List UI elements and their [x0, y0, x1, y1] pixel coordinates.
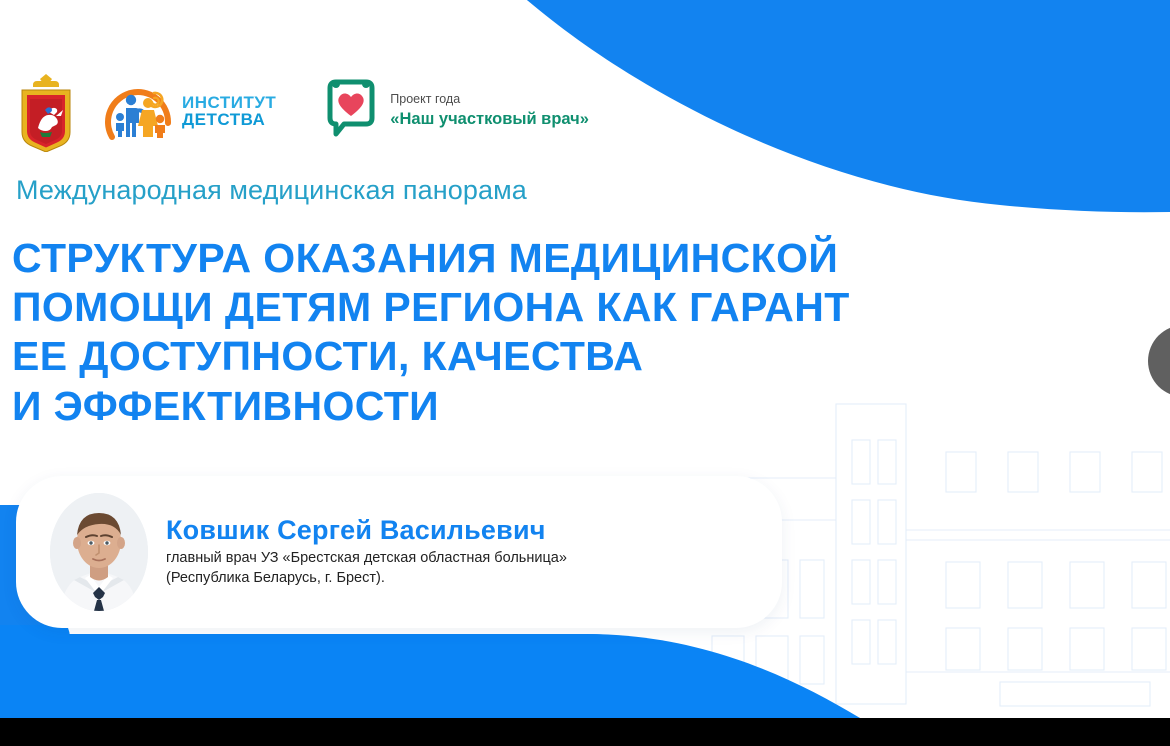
- avatar: [50, 493, 148, 611]
- title-line-3: ЕЕ ДОСТУПНОСТИ, КАЧЕСТВА: [12, 332, 1122, 381]
- logo-row: ИНСТИТУТ ДЕТСТВА Проект года «Наш участк…: [10, 70, 589, 152]
- title-line-4: И ЭФФЕКТИВНОСТИ: [12, 382, 1122, 431]
- speaker-portrait-icon: [50, 493, 148, 611]
- blue-bottom-band-shape: [0, 634, 860, 718]
- speaker-name: Ковшик Сергей Васильевич: [166, 515, 567, 546]
- title-line-2: ПОМОЩИ ДЕТЯМ РЕГИОНА КАК ГАРАНТ: [12, 283, 1122, 332]
- heart-stethoscope-icon: [322, 76, 380, 146]
- institute-line-1: ИНСТИТУТ: [182, 94, 276, 111]
- blue-corner-blob-shape: [527, 0, 1170, 212]
- institute-line-2: ДЕТСТВА: [182, 111, 276, 128]
- institute-wordmark: ИНСТИТУТ ДЕТСТВА: [182, 94, 276, 128]
- institute-of-childhood-logo-icon: [102, 75, 180, 147]
- project-small-label: Проект года: [390, 92, 589, 108]
- speaker-place: (Республика Беларусь, г. Брест).: [166, 569, 567, 589]
- institute-logo: ИНСТИТУТ ДЕТСТВА: [102, 75, 276, 147]
- presentation-slide: ИНСТИТУТ ДЕТСТВА Проект года «Наш участк…: [0, 0, 1170, 746]
- project-wordmark: Проект года «Наш участковый врач»: [390, 92, 589, 129]
- title-line-1: СТРУКТУРА ОКАЗАНИЯ МЕДИЦИНСКОЙ: [12, 234, 1122, 283]
- project-big-label: «Наш участковый врач»: [390, 109, 589, 130]
- moscow-region-coat-of-arms-icon: [16, 70, 76, 152]
- page-title: СТРУКТУРА ОКАЗАНИЯ МЕДИЦИНСКОЙ ПОМОЩИ ДЕ…: [12, 234, 1122, 431]
- project-logo: Проект года «Наш участковый врач»: [322, 76, 589, 146]
- speaker-card: Ковшик Сергей Васильевич главный врач УЗ…: [16, 476, 782, 628]
- eyebrow-text: Международная медицинская панорама: [16, 175, 527, 206]
- letterbox-bar: [0, 718, 1170, 746]
- speaker-role: главный врач УЗ «Брестская детская облас…: [166, 549, 567, 569]
- participant-avatar-dot: [1148, 325, 1170, 397]
- speaker-details: Ковшик Сергей Васильевич главный врач УЗ…: [166, 515, 567, 588]
